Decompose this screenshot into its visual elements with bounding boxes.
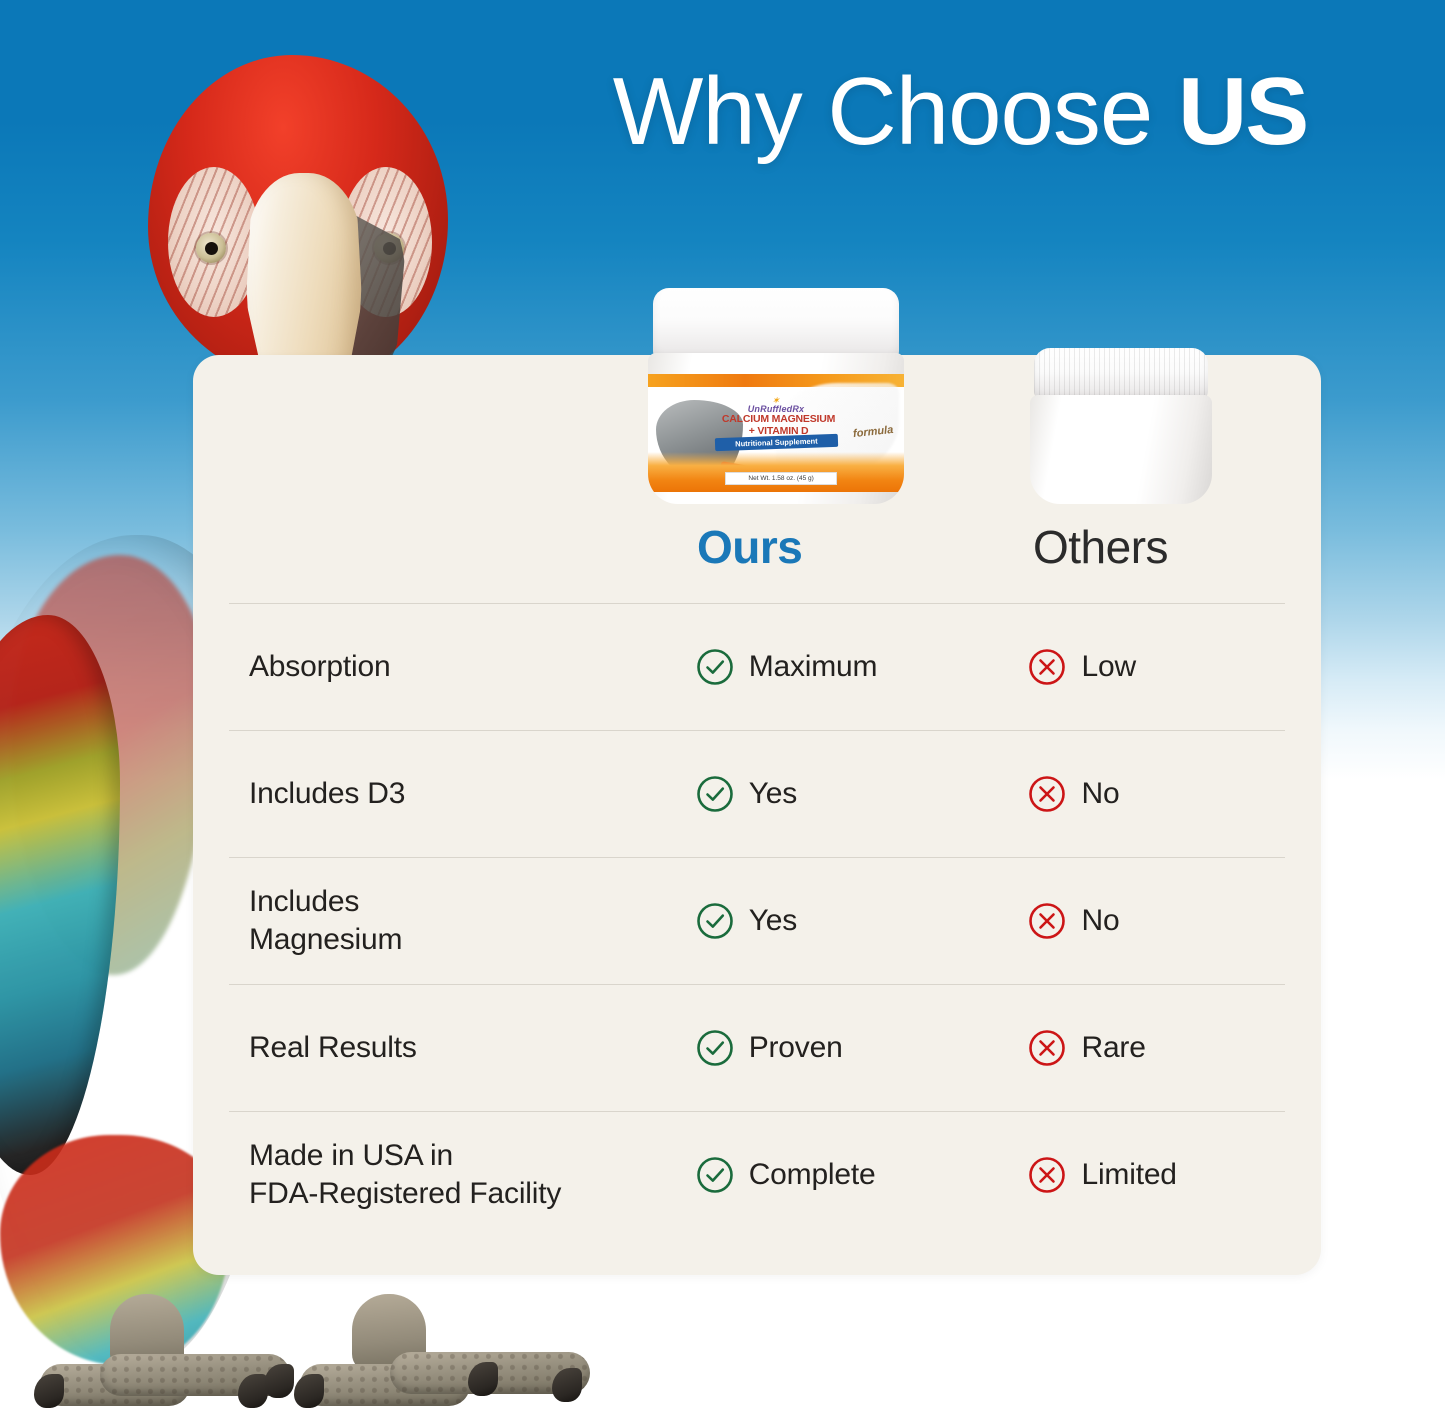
ours-product-jar: ✶ UnRuffledRx CALCIUM MAGNESIUM + VITAMI… <box>648 288 904 504</box>
others-product-jar <box>1030 348 1212 504</box>
column-header-ours: Ours <box>697 520 957 574</box>
x-circle-icon <box>1027 647 1067 687</box>
row-ours-value: Complete <box>749 1158 876 1192</box>
row-ours-value: Yes <box>749 904 797 938</box>
jar-body <box>1030 395 1212 504</box>
row-others-cell: Low <box>1027 647 1285 687</box>
row-ours-cell: Complete <box>695 1155 1028 1195</box>
row-others-value: Low <box>1081 650 1135 684</box>
jar-lid <box>1034 348 1209 401</box>
row-others-cell: No <box>1027 901 1285 941</box>
table-row: Made in USA in FDA-Registered Facility C… <box>193 1112 1321 1238</box>
row-ours-value: Yes <box>749 777 797 811</box>
brand-name: ✶ UnRuffledRx <box>648 398 904 414</box>
x-circle-icon <box>1027 774 1067 814</box>
column-header-others: Others <box>1033 520 1313 574</box>
row-ours-value: Proven <box>749 1031 843 1065</box>
page-title: Why Choose US <box>520 62 1400 163</box>
check-circle-icon <box>695 1028 735 1068</box>
jar-body: ✶ UnRuffledRx CALCIUM MAGNESIUM + VITAMI… <box>648 353 904 504</box>
table-row: Includes Magnesium Yes No <box>193 858 1321 984</box>
parrot-foot-left <box>40 1306 290 1406</box>
check-circle-icon <box>695 1155 735 1195</box>
product-title-line1: CALCIUM MAGNESIUM <box>722 413 835 425</box>
row-feature-label: Made in USA in FDA-Registered Facility <box>229 1137 695 1213</box>
parrot-foot-right <box>300 1306 590 1406</box>
page-title-emphasis: US <box>1178 58 1307 165</box>
row-ours-cell: Maximum <box>695 647 1028 687</box>
product-label: ✶ UnRuffledRx CALCIUM MAGNESIUM + VITAMI… <box>648 374 904 492</box>
row-feature-label: Includes Magnesium <box>229 883 695 959</box>
row-feature-label: Includes D3 <box>229 775 695 813</box>
comparison-column-headers: Ours Others <box>193 520 1321 600</box>
row-others-cell: No <box>1027 774 1285 814</box>
row-ours-value: Maximum <box>749 650 878 684</box>
table-row: Real Results Proven Rare <box>193 985 1321 1111</box>
row-ours-cell: Yes <box>695 774 1028 814</box>
x-circle-icon <box>1027 1028 1067 1068</box>
x-circle-icon <box>1027 1155 1067 1195</box>
row-feature-label: Real Results <box>229 1029 695 1067</box>
check-circle-icon <box>695 901 735 941</box>
row-others-value: No <box>1081 904 1119 938</box>
row-others-cell: Rare <box>1027 1028 1285 1068</box>
row-others-value: Rare <box>1081 1031 1145 1065</box>
net-weight: Net Wt. 1.58 oz. (45 g) <box>725 472 838 485</box>
row-feature-label: Absorption <box>229 648 695 686</box>
page-title-lead: Why Choose <box>613 58 1178 165</box>
row-ours-cell: Yes <box>695 901 1028 941</box>
check-circle-icon <box>695 774 735 814</box>
parrot-eye-left <box>196 233 226 263</box>
table-row: Absorption Maximum Low <box>193 604 1321 730</box>
row-others-value: No <box>1081 777 1119 811</box>
table-row: Includes D3 Yes No <box>193 731 1321 857</box>
check-circle-icon <box>695 647 735 687</box>
product-title: CALCIUM MAGNESIUM + VITAMIN D <box>679 413 879 437</box>
row-ours-cell: Proven <box>695 1028 1028 1068</box>
comparison-table: Absorption Maximum Low Includes D3 <box>193 603 1321 1238</box>
row-others-value: Limited <box>1081 1158 1176 1192</box>
row-others-cell: Limited <box>1027 1155 1285 1195</box>
x-circle-icon <box>1027 901 1067 941</box>
jar-lid <box>653 288 899 361</box>
